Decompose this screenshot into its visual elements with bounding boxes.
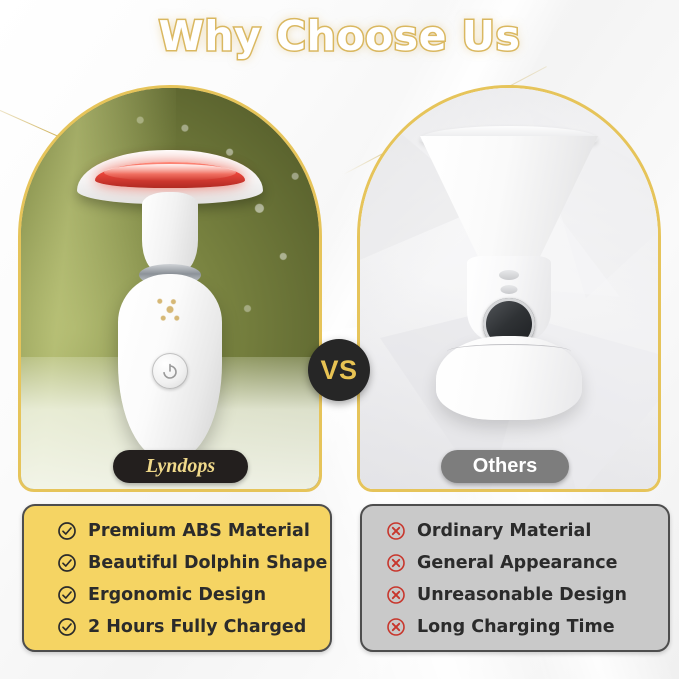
device-led-highlight [104, 164, 236, 181]
list-item-label: Long Charging Time [417, 617, 615, 637]
cross-circle-icon [386, 553, 406, 573]
list-item-label: General Appearance [417, 553, 618, 573]
list-item-label: Beautiful Dolphin Shape [88, 553, 327, 573]
device-indicator-lights [153, 296, 187, 322]
list-item: General Appearance [362, 547, 668, 579]
our-product-image-frame [18, 85, 322, 492]
competitor-product-image-frame [357, 85, 661, 492]
page-title: Why Choose Us [0, 12, 679, 60]
competitor-device-button [501, 285, 518, 294]
competitor-product-photo [360, 88, 658, 489]
list-item-label: Ordinary Material [417, 521, 591, 541]
list-item: Ordinary Material [362, 515, 668, 547]
list-item: Unreasonable Design [362, 579, 668, 611]
list-item: 2 Hours Fully Charged [24, 611, 330, 643]
list-item: Premium ABS Material [24, 515, 330, 547]
device-neck [142, 192, 198, 272]
check-circle-icon [57, 553, 77, 573]
list-item: Long Charging Time [362, 611, 668, 643]
competitor-device-seam [447, 344, 571, 359]
power-button-icon [152, 353, 188, 389]
brand-badge-lyndops: Lyndops [113, 450, 248, 483]
list-item: Ergonomic Design [24, 579, 330, 611]
check-circle-icon [57, 521, 77, 541]
pros-panel: Premium ABS Material Beautiful Dolphin S… [22, 504, 332, 652]
list-item-label: Premium ABS Material [88, 521, 310, 541]
our-product-photo [21, 88, 319, 489]
why-choose-us-infographic: Why Choose Us [0, 0, 679, 679]
cross-circle-icon [386, 617, 406, 637]
list-item-label: Unreasonable Design [417, 585, 627, 605]
list-item: Beautiful Dolphin Shape [24, 547, 330, 579]
brand-badge-others: Others [441, 450, 569, 483]
competitor-device-button [499, 270, 519, 280]
cross-circle-icon [386, 521, 406, 541]
check-circle-icon [57, 617, 77, 637]
check-circle-icon [57, 585, 77, 605]
vs-badge: VS [308, 339, 370, 401]
cons-panel: Ordinary Material General Appearance U [360, 504, 670, 652]
list-item-label: Ergonomic Design [88, 585, 266, 605]
list-item-label: 2 Hours Fully Charged [88, 617, 306, 637]
cross-circle-icon [386, 585, 406, 605]
